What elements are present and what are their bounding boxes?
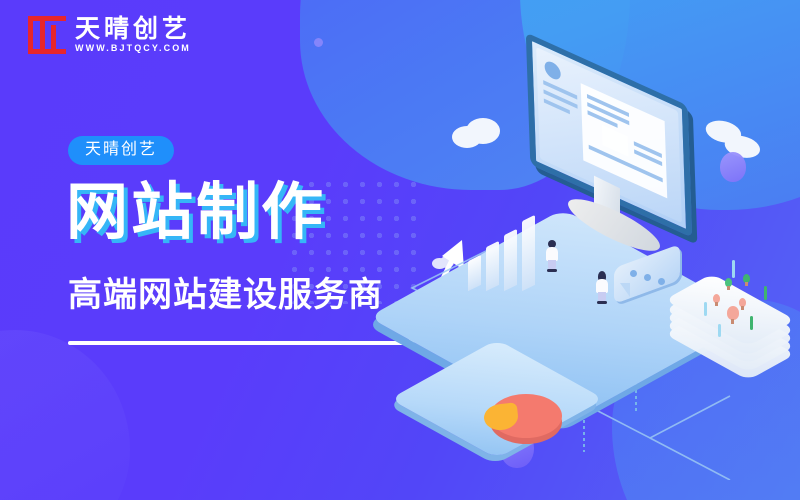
tree-icon	[712, 294, 721, 306]
logo-company-name: 天晴创艺	[75, 17, 191, 42]
promo-banner: 天晴创艺 WWW.BJTQCY.COM 天晴创艺 网站制作 高端网站建设服务商	[0, 0, 800, 500]
pie-chart	[484, 390, 568, 450]
person-figure	[596, 272, 608, 304]
brand-bracket-icon	[28, 16, 66, 54]
logo-website: WWW.BJTQCY.COM	[75, 44, 191, 53]
logo-text-group: 天晴创艺 WWW.BJTQCY.COM	[75, 17, 191, 53]
server-stack	[684, 272, 800, 382]
isometric-illustration	[400, 60, 800, 480]
decorative-sphere	[314, 38, 323, 47]
chat-bubble-icon	[614, 256, 680, 298]
page-title: 网站制作	[66, 180, 326, 247]
tree-icon	[726, 306, 740, 324]
divider-line	[68, 341, 411, 345]
hero-badge: 天晴创艺	[68, 136, 174, 165]
background-blob-lower-left	[0, 330, 130, 500]
tree-icon	[724, 278, 733, 290]
brand-logo[interactable]: 天晴创艺 WWW.BJTQCY.COM	[28, 16, 191, 54]
person-figure	[546, 240, 558, 272]
tree-icon	[742, 274, 751, 286]
hero-subtitle: 高端网站建设服务商	[68, 277, 383, 314]
